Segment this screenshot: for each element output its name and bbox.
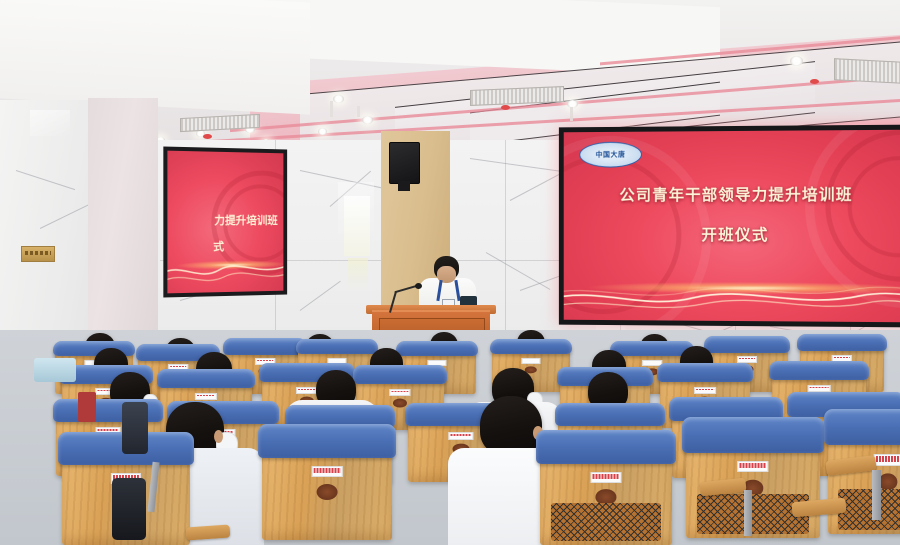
downlight-4: [318, 128, 327, 135]
seat-mesh-pocket: [551, 503, 662, 541]
slide-wave-graphic: [564, 282, 900, 318]
seat-number-label: [737, 461, 768, 472]
monitor-screen: [34, 358, 76, 382]
smoke-detector-2: [501, 105, 510, 110]
left-screen-subtitle-fragment: 式: [213, 238, 224, 254]
seat[interactable]: [828, 426, 900, 534]
wall-speaker-icon: [389, 142, 420, 184]
microphone-icon: [415, 283, 422, 289]
smoke-detector-3: [810, 79, 819, 84]
aisle-bag: [122, 402, 148, 454]
seat-number-label: [874, 454, 900, 466]
company-logo-text: 中国大唐: [596, 150, 626, 160]
left-screen-title-fragment: 力提升培训班: [214, 212, 277, 228]
seat-leg: [744, 490, 752, 536]
seat-number-label: [312, 466, 343, 477]
air-vent-right: [834, 58, 900, 84]
light-drop-rod-1: [330, 101, 333, 117]
seat[interactable]: [262, 440, 392, 540]
seat[interactable]: [540, 446, 672, 545]
seat-number-label: [448, 432, 473, 440]
wall-plaque: [21, 246, 55, 262]
audience-seating: [0, 330, 900, 545]
seat-number-label: [521, 358, 540, 364]
downlight-5: [333, 95, 344, 103]
seat-number-label: [590, 472, 621, 483]
light-drop-rod-3: [570, 107, 573, 121]
smoke-detector-1: [203, 134, 212, 139]
left-screen-wave-graphic: [167, 253, 283, 289]
attendee-ear: [214, 430, 223, 443]
led-display-left[interactable]: 力提升培训班 式: [163, 146, 287, 297]
seat-mesh-pocket: [838, 489, 900, 530]
conference-hall-photo: 力提升培训班 式 中国大唐 公司青年干部领导力提升培训班 开班仪式: [0, 0, 900, 545]
seat-number-label: [195, 393, 217, 400]
seat-number-label: [389, 389, 410, 396]
aisle-bag: [112, 478, 146, 540]
red-folder: [78, 392, 96, 422]
seat-number-label: [808, 385, 831, 392]
led-display-main[interactable]: 中国大唐 公司青年干部领导力提升培训班 开班仪式: [559, 125, 900, 328]
seat-number-label: [296, 387, 318, 394]
downlight-1: [362, 116, 373, 124]
slide-title-line1: 公司青年干部领导力提升培训班: [564, 182, 900, 205]
speaker-bracket: [398, 181, 410, 191]
slide-title-line2: 开班仪式: [564, 223, 900, 245]
seat-number-label: [737, 356, 757, 362]
seat-leg: [872, 470, 881, 520]
light-drop-rod-2: [357, 106, 360, 117]
seat-number-label: [694, 387, 716, 394]
attendee-head: [480, 396, 542, 456]
downlight-7: [790, 56, 803, 66]
